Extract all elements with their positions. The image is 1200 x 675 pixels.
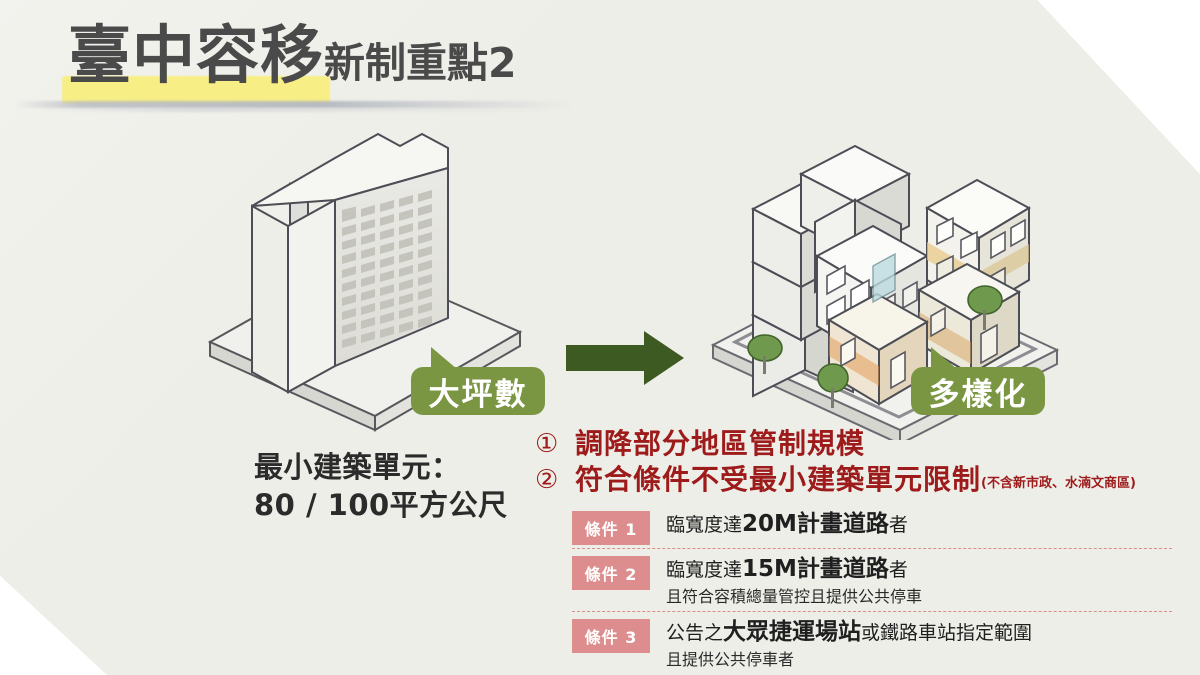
point-number: ② bbox=[535, 464, 575, 496]
condition-sub-text: 且符合容積總量管控且提供公共停車 bbox=[666, 586, 922, 608]
point-text: 符合條件不受最小建築單元限制(不含新市政、水湳文商區) bbox=[575, 464, 1136, 500]
title-underline-stroke bbox=[14, 101, 574, 108]
condition-post: 或鐵路車站指定範圍 bbox=[861, 622, 1032, 644]
condition-post: 者 bbox=[889, 514, 908, 536]
conditions-list: 條件 1 臨寬度達20M計畫道路者 條件 2 臨寬度達15M計畫道路者 且符合容… bbox=[572, 505, 1172, 672]
right-arrow-icon bbox=[566, 327, 686, 389]
condition-row: 條件 2 臨寬度達15M計畫道路者 且符合容積總量管控且提供公共停車 bbox=[572, 548, 1172, 608]
condition-main-text: 臨寬度達20M計畫道路者 bbox=[666, 509, 908, 540]
condition-chip: 條件 2 bbox=[572, 556, 650, 590]
condition-pre: 臨寬度達 bbox=[666, 514, 742, 536]
key-point-item: ② 符合條件不受最小建築單元限制(不含新市政、水湳文商區) bbox=[535, 464, 1175, 500]
point-number: ① bbox=[535, 428, 575, 460]
badge-diverse-label: 多樣化 bbox=[929, 369, 1028, 414]
page-title: 臺中容移新制重點2 bbox=[68, 24, 517, 110]
condition-strong: 15M計畫道路 bbox=[742, 556, 889, 582]
condition-pre: 臨寬度達 bbox=[666, 559, 742, 581]
condition-pre: 公告之 bbox=[666, 622, 723, 644]
key-points-list: ① 調降部分地區管制規模 ② 符合條件不受最小建築單元限制(不含新市政、水湳文商… bbox=[535, 428, 1175, 504]
condition-row: 條件 3 公告之大眾捷運場站或鐵路車站指定範圍 且提供公共停車者 bbox=[572, 611, 1172, 671]
title-sub: 新制重點2 bbox=[324, 39, 517, 87]
condition-main-text: 公告之大眾捷運場站或鐵路車站指定範圍 bbox=[666, 617, 1032, 648]
badge-large-label: 大坪數 bbox=[429, 369, 528, 414]
condition-strong: 大眾捷運場站 bbox=[723, 619, 861, 645]
condition-row: 條件 1 臨寬度達20M計畫道路者 bbox=[572, 505, 1172, 545]
condition-chip: 條件 3 bbox=[572, 619, 650, 653]
condition-post: 者 bbox=[889, 559, 908, 581]
point-text-main: 符合條件不受最小建築單元限制 bbox=[575, 463, 981, 496]
condition-strong: 20M計畫道路 bbox=[742, 511, 889, 537]
condition-body: 臨寬度達20M計畫道路者 bbox=[666, 509, 908, 540]
badge-pointer-icon bbox=[931, 347, 957, 369]
condition-body: 臨寬度達15M計畫道路者 且符合容積總量管控且提供公共停車 bbox=[666, 554, 922, 608]
caption-line-1: 最小建築單元： bbox=[254, 448, 508, 486]
condition-main-text: 臨寬度達15M計畫道路者 bbox=[666, 554, 922, 585]
badge-large-floorplate: 大坪數 bbox=[411, 367, 545, 415]
slide-root: 臺中容移新制重點2 bbox=[0, 0, 1200, 675]
condition-sub-text: 且提供公共停車者 bbox=[666, 649, 1032, 671]
point-text-note: (不含新市政、水湳文商區) bbox=[981, 476, 1136, 491]
condition-chip: 條件 1 bbox=[572, 511, 650, 545]
title-main: 臺中容移 bbox=[68, 19, 324, 92]
badge-diversified: 多樣化 bbox=[911, 367, 1045, 415]
key-point-item: ① 調降部分地區管制規模 bbox=[535, 428, 1175, 460]
badge-pointer-icon bbox=[431, 347, 457, 369]
condition-body: 公告之大眾捷運場站或鐵路車站指定範圍 且提供公共停車者 bbox=[666, 617, 1032, 671]
min-building-unit-caption: 最小建築單元： 80 / 100平方公尺 bbox=[254, 448, 508, 525]
caption-line-2: 80 / 100平方公尺 bbox=[254, 486, 508, 524]
point-text: 調降部分地區管制規模 bbox=[575, 428, 865, 460]
